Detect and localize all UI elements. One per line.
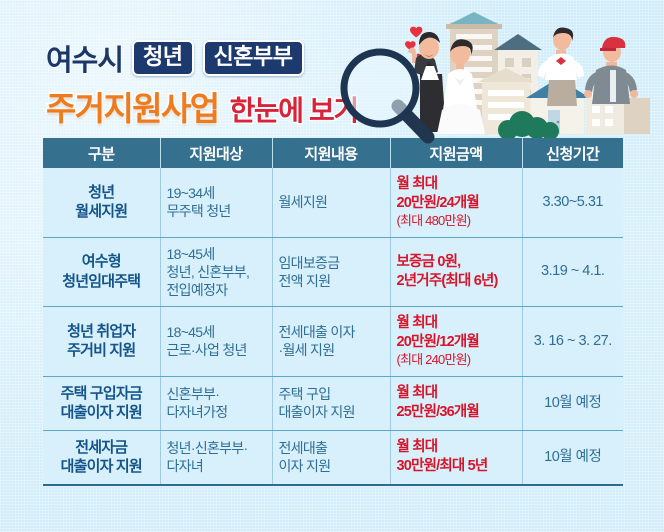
illustration-scene bbox=[372, 0, 664, 140]
table-body: 청년 월세지원 19~34세 무주택 청년 월세지원 월 최대 20만원/24개… bbox=[43, 168, 623, 485]
cell-content: 전세대출 이자 지원 bbox=[272, 430, 390, 485]
cell-period: 10월 예정 bbox=[522, 430, 623, 485]
apartment-building-right bbox=[586, 86, 650, 134]
cell-amount: 월 최대 30만원/최대 5년 bbox=[390, 430, 522, 485]
figure-groom bbox=[408, 32, 446, 132]
column-header-period: 신청기간 bbox=[522, 138, 623, 168]
cell-category: 청년 취업자 주거비 지원 bbox=[43, 307, 160, 377]
headline-program: 주거지원사업 bbox=[46, 82, 219, 130]
cell-target: 청년·신혼부부· 다자녀 bbox=[160, 430, 272, 485]
poster-title: 여수시 청년 신혼부부 주거지원사업 한눈에 보기 bbox=[46, 40, 358, 122]
cell-category: 주택 구입자금 대출이자 지원 bbox=[43, 376, 160, 430]
cell-period: 3.30~5.31 bbox=[522, 168, 623, 237]
badge-newlywed: 신혼부부 bbox=[203, 40, 304, 75]
cell-target: 18~45세 청년, 신혼부부, 전입예정자 bbox=[160, 237, 272, 307]
cell-period: 3. 16 ~ 3. 27. bbox=[522, 307, 623, 377]
cell-target: 19~34세 무주택 청년 bbox=[160, 168, 272, 237]
poster-root: 여수시 청년 신혼부부 주거지원사업 한눈에 보기 구분 bbox=[0, 0, 664, 532]
table-header-row: 구분 지원대상 지원내용 지원금액 신청기간 bbox=[43, 138, 623, 168]
table-row: 청년 취업자 주거비 지원 18~45세 근로·사업 청년 전세대출 이자 ·월… bbox=[43, 307, 623, 377]
column-header-target: 지원대상 bbox=[160, 138, 272, 168]
cell-amount: 월 최대 20만원/12개월 (최대 240만원) bbox=[390, 307, 522, 377]
house-blue-roof bbox=[526, 78, 590, 134]
cell-category: 여수형 청년임대주택 bbox=[43, 237, 160, 307]
cell-amount: 월 최대 20만원/24개월 (최대 480만원) bbox=[390, 168, 522, 237]
table-row: 여수형 청년임대주택 18~45세 청년, 신혼부부, 전입예정자 임대보증금 … bbox=[43, 237, 623, 307]
column-header-category: 구분 bbox=[43, 138, 160, 168]
table-row: 청년 월세지원 19~34세 무주택 청년 월세지원 월 최대 20만원/24개… bbox=[43, 168, 623, 237]
cell-content: 월세지원 bbox=[272, 168, 390, 237]
cell-target: 신혼부부· 다자녀가정 bbox=[160, 376, 272, 430]
cell-amount: 월 최대 25만원/36개월 bbox=[390, 376, 522, 430]
apartment-building-low bbox=[478, 68, 534, 134]
cell-target: 18~45세 근로·사업 청년 bbox=[160, 307, 272, 377]
column-header-content: 지원내용 bbox=[272, 138, 390, 168]
cell-period: 10월 예정 bbox=[522, 376, 623, 430]
heart-icons bbox=[405, 27, 422, 62]
cell-content: 주택 구입 대출이자 지원 bbox=[272, 376, 390, 430]
figure-bride bbox=[437, 39, 485, 134]
badge-youth: 청년 bbox=[132, 40, 193, 75]
column-header-amount: 지원금액 bbox=[390, 138, 522, 168]
figure-young-man-bowtie bbox=[538, 27, 584, 106]
cell-content: 전세대출 이자 ·월세 지원 bbox=[272, 307, 390, 377]
cell-period: 3.19 ~ 4.1. bbox=[522, 237, 623, 307]
figure-young-man-cap bbox=[584, 37, 638, 104]
support-programs-table: 구분 지원대상 지원내용 지원금액 신청기간 청년 월세지원 19~34세 bbox=[43, 138, 623, 486]
table-row: 전세자금 대출이자 지원 청년·신혼부부· 다자녀 전세대출 이자 지원 월 최… bbox=[43, 430, 623, 485]
headline-subtitle: 한눈에 보기 bbox=[230, 89, 358, 129]
title-line-one: 여수시 청년 신혼부부 bbox=[46, 40, 358, 76]
cell-amount: 보증금 0원, 2년거주(최대 6년) bbox=[390, 237, 522, 307]
cell-content: 임대보증금 전액 지원 bbox=[272, 237, 390, 307]
cell-category: 전세자금 대출이자 지원 bbox=[43, 430, 160, 485]
cell-category: 청년 월세지원 bbox=[43, 168, 160, 237]
table-row: 주택 구입자금 대출이자 지원 신혼부부· 다자녀가정 주택 구입 대출이자 지… bbox=[43, 376, 623, 430]
title-line-two: 주거지원사업 한눈에 보기 bbox=[46, 82, 358, 122]
apartment-building-mid bbox=[494, 34, 542, 134]
apartment-building-tall bbox=[446, 12, 502, 134]
tree-cluster bbox=[498, 111, 559, 140]
city-name: 여수시 bbox=[46, 37, 123, 79]
